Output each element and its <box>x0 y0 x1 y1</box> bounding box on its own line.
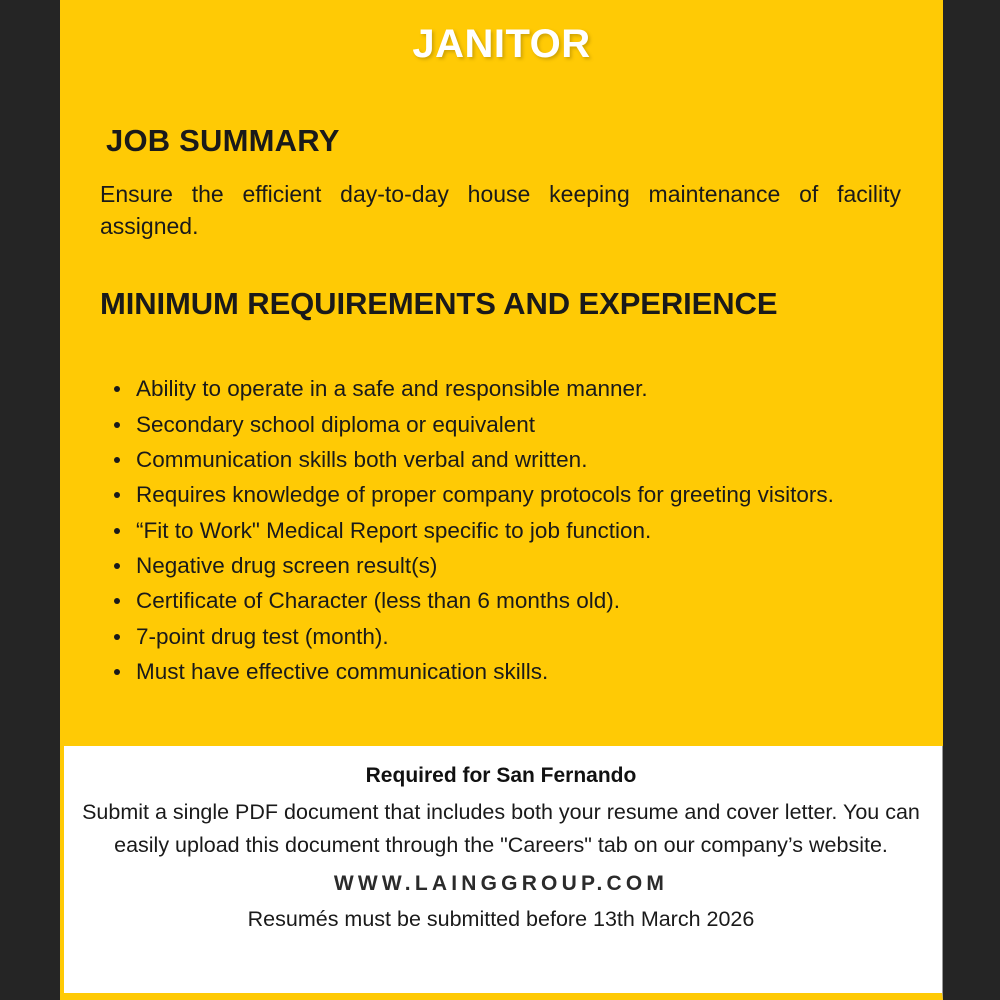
required-for-location: Required for San Fernando <box>82 760 920 792</box>
poster-yellow-section: JANITOR JOB SUMMARY Ensure the efficient… <box>60 0 943 746</box>
job-summary-heading: JOB SUMMARY <box>60 67 943 159</box>
application-instructions: Submit a single PDF document that includ… <box>82 796 920 864</box>
list-item: Negative drug screen result(s) <box>106 551 901 582</box>
list-item: Secondary school diploma or equivalent <box>106 410 901 441</box>
page-title: JANITOR <box>60 0 943 67</box>
minimum-requirements-heading: MINIMUM REQUIREMENTS AND EXPERIENCE <box>60 242 943 322</box>
poster-footer-section: Required for San Fernando Submit a singl… <box>60 746 943 1000</box>
list-item: Certificate of Character (less than 6 mo… <box>106 586 901 617</box>
submission-deadline: Resumés must be submitted before 13th Ma… <box>82 907 920 932</box>
list-item: “Fit to Work" Medical Report specific to… <box>106 516 901 547</box>
list-item: Must have effective communication skills… <box>106 657 901 688</box>
company-website-link[interactable]: WWW.LAINGGROUP.COM <box>82 872 920 896</box>
job-posting-poster: JANITOR JOB SUMMARY Ensure the efficient… <box>60 0 943 1000</box>
list-item: 7-point drug test (month). <box>106 622 901 653</box>
list-item: Communication skills both verbal and wri… <box>106 445 901 476</box>
list-item: Requires knowledge of proper company pro… <box>106 480 901 511</box>
job-summary-text: Ensure the efficient day-to-day house ke… <box>60 159 943 242</box>
requirements-list: Ability to operate in a safe and respons… <box>60 322 943 687</box>
list-item: Ability to operate in a safe and respons… <box>106 374 901 405</box>
